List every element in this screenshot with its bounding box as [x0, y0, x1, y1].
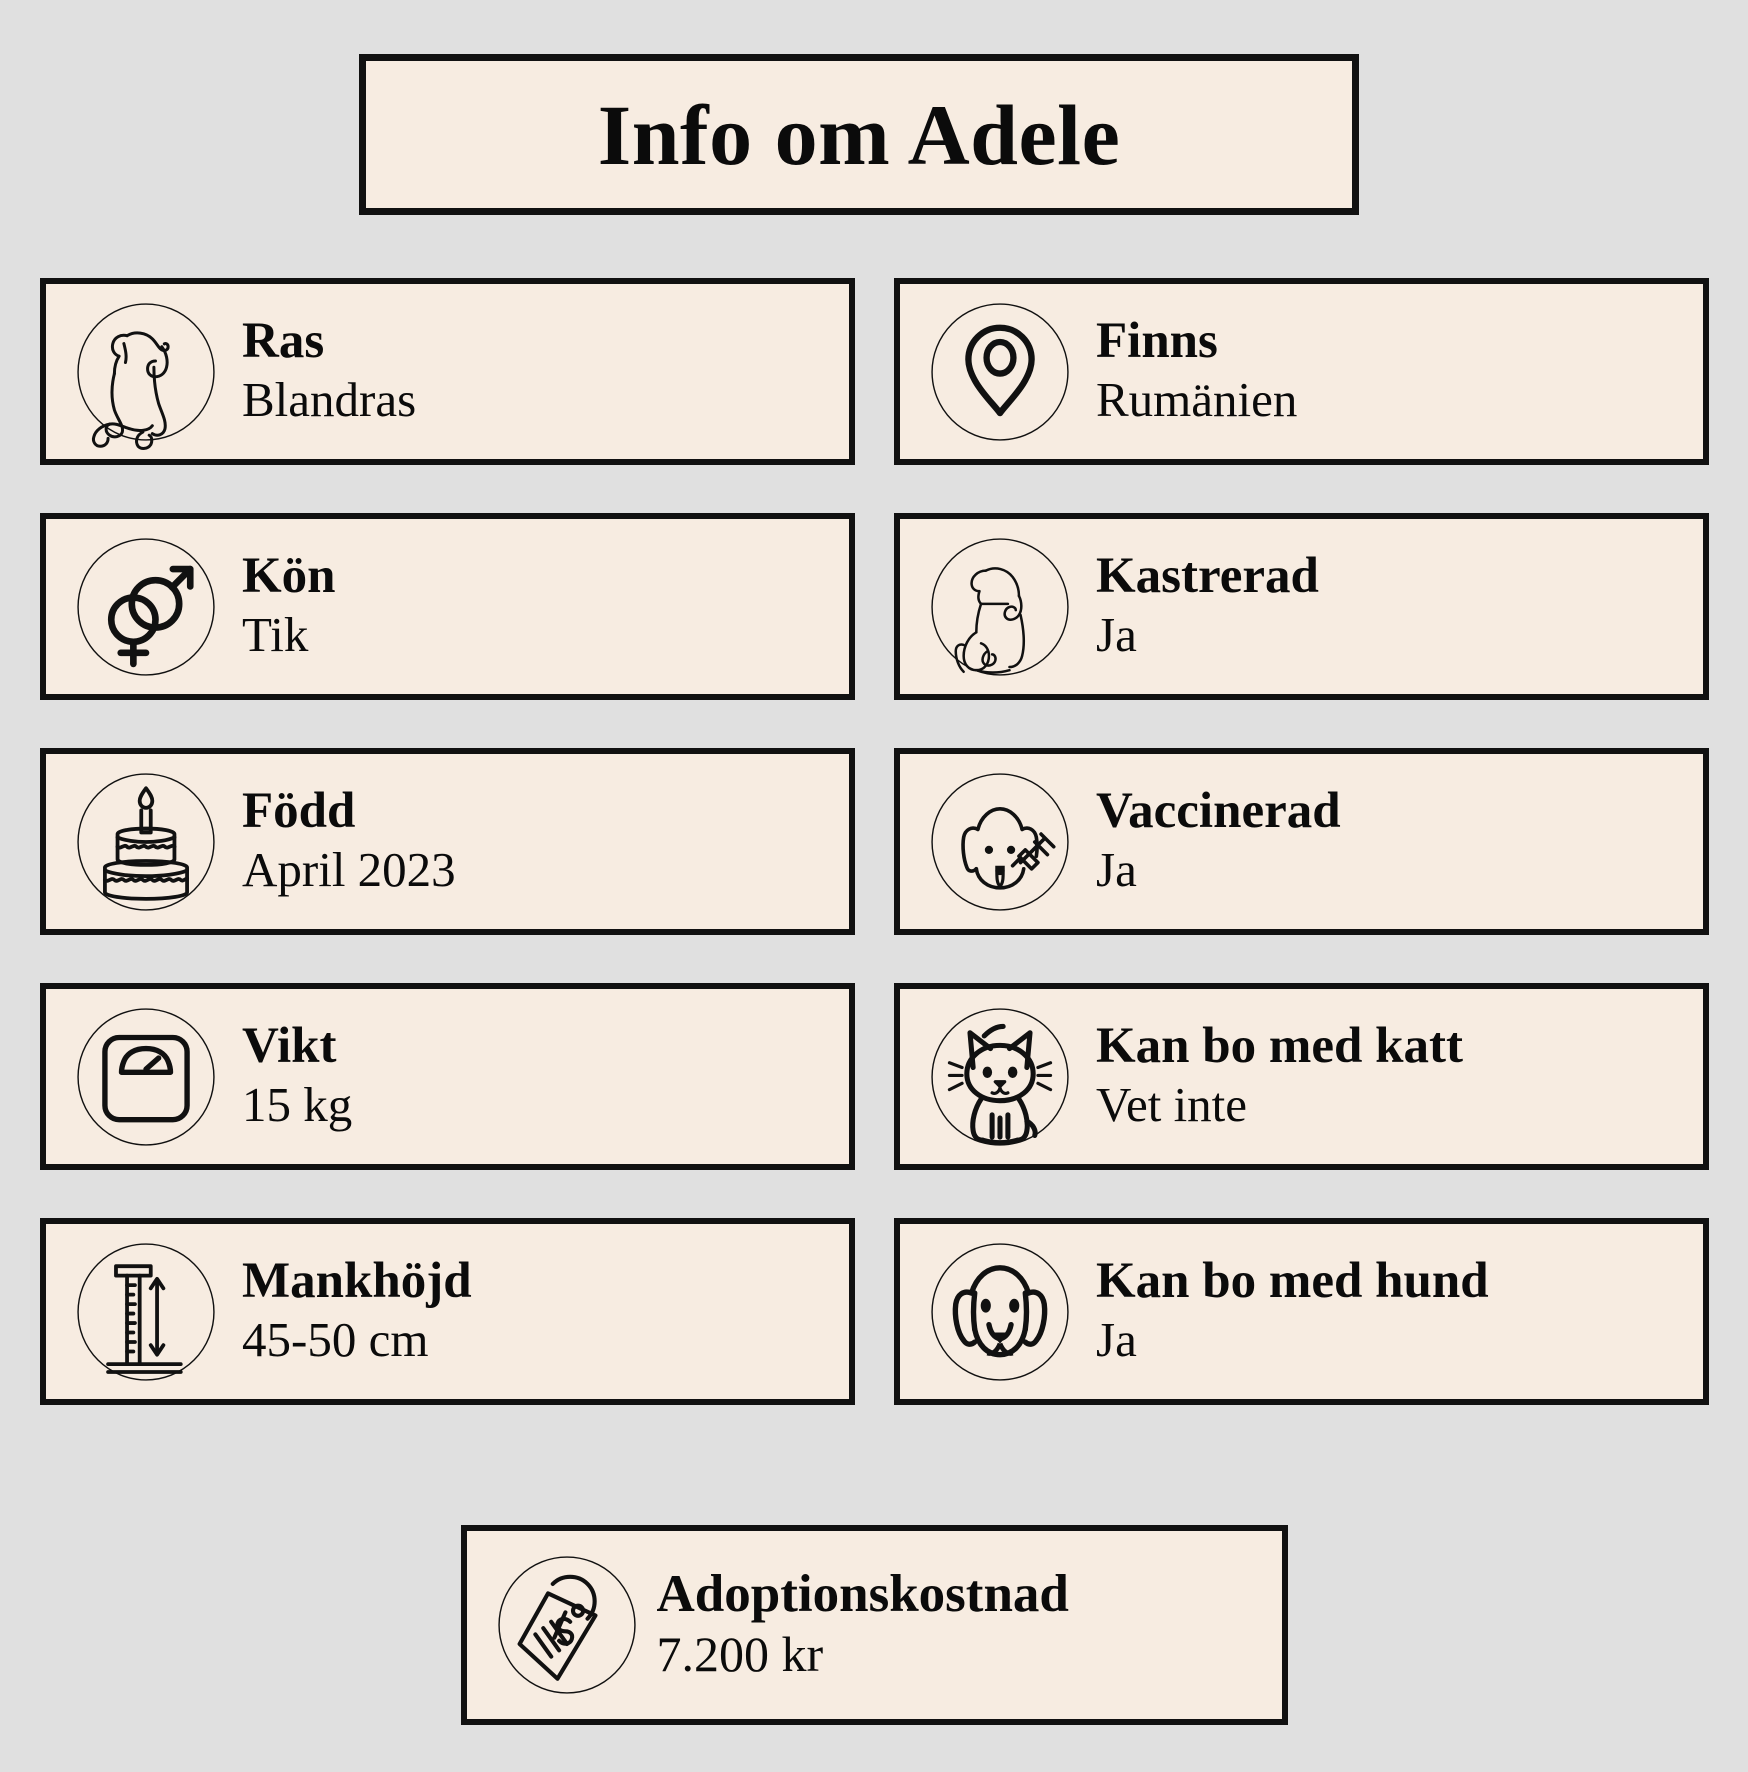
dog-face-icon: [918, 1230, 1082, 1394]
card-label: Kan bo med hund: [1096, 1254, 1489, 1309]
card-value: Rumänien: [1096, 371, 1297, 429]
card-value: 45-50 cm: [242, 1311, 472, 1369]
info-card-kastrerad: Kastrerad Ja: [894, 513, 1709, 700]
card-value: Tik: [242, 606, 336, 664]
card-text: Ras Blandras: [242, 314, 416, 429]
card-text: Kan bo med katt Vet inte: [1096, 1019, 1463, 1134]
card-text: Kan bo med hund Ja: [1096, 1254, 1489, 1369]
card-label: Kan bo med katt: [1096, 1019, 1463, 1074]
card-value: 15 kg: [242, 1076, 352, 1134]
info-card-fodd: Född April 2023: [40, 748, 855, 935]
ruler-height-icon: [64, 1230, 228, 1394]
card-label: Finns: [1096, 314, 1297, 369]
card-value: Blandras: [242, 371, 416, 429]
card-value: Ja: [1096, 606, 1319, 664]
info-row: Kön Tik: [40, 513, 1710, 700]
price-tag-icon: [485, 1543, 649, 1707]
cat-icon: [918, 995, 1082, 1159]
info-card-adoptionskostnad: Adoptionskostnad 7.200 kr: [461, 1525, 1288, 1725]
info-card-kon: Kön Tik: [40, 513, 855, 700]
dog-line-art-icon: [64, 290, 228, 454]
card-label: Adoptionskostnad: [657, 1566, 1069, 1623]
card-value: Ja: [1096, 841, 1341, 899]
page-title-box: Info om Adele: [359, 54, 1359, 215]
card-label: Vikt: [242, 1019, 352, 1074]
card-label: Kön: [242, 549, 336, 604]
card-value: Ja: [1096, 1311, 1489, 1369]
card-value: 7.200 kr: [657, 1625, 1069, 1684]
card-text: Vaccinerad Ja: [1096, 784, 1341, 899]
card-label: Mankhöjd: [242, 1254, 472, 1309]
info-row: Vikt 15 kg: [40, 983, 1710, 1170]
weight-scale-icon: [64, 995, 228, 1159]
info-row: Född April 2023: [40, 748, 1710, 935]
info-card-page: Info om Adele: [0, 0, 1748, 1772]
card-text: Mankhöjd 45-50 cm: [242, 1254, 472, 1369]
info-card-finns: Finns Rumänien: [894, 278, 1709, 465]
info-card-kan-bo-med-hund: Kan bo med hund Ja: [894, 1218, 1709, 1405]
bottom-card-wrap: Adoptionskostnad 7.200 kr: [0, 1525, 1748, 1725]
info-card-vikt: Vikt 15 kg: [40, 983, 855, 1170]
card-label: Född: [242, 784, 456, 839]
card-value: Vet inte: [1096, 1076, 1463, 1134]
card-text: Född April 2023: [242, 784, 456, 899]
card-label: Kastrerad: [1096, 549, 1319, 604]
info-row: Mankhöjd 45-50 cm: [40, 1218, 1710, 1405]
info-card-ras: Ras Blandras: [40, 278, 855, 465]
info-card-mankhojd: Mankhöjd 45-50 cm: [40, 1218, 855, 1405]
info-row: Ras Blandras Finns Rumänien: [40, 278, 1710, 465]
card-label: Vaccinerad: [1096, 784, 1341, 839]
card-label: Ras: [242, 314, 416, 369]
dog-syringe-icon: [918, 760, 1082, 924]
sitting-dog-icon: [918, 525, 1082, 689]
gender-symbols-icon: [64, 525, 228, 689]
card-text: Vikt 15 kg: [242, 1019, 352, 1134]
info-card-vaccinerad: Vaccinerad Ja: [894, 748, 1709, 935]
card-text: Kön Tik: [242, 549, 336, 664]
info-card-kan-bo-med-katt: Kan bo med katt Vet inte: [894, 983, 1709, 1170]
birthday-cake-icon: [64, 760, 228, 924]
card-value: April 2023: [242, 841, 456, 899]
card-text: Adoptionskostnad 7.200 kr: [657, 1566, 1069, 1684]
info-grid: Ras Blandras Finns Rumänien: [40, 278, 1710, 1453]
card-text: Kastrerad Ja: [1096, 549, 1319, 664]
page-title: Info om Adele: [598, 92, 1121, 178]
card-text: Finns Rumänien: [1096, 314, 1297, 429]
map-pin-icon: [918, 290, 1082, 454]
